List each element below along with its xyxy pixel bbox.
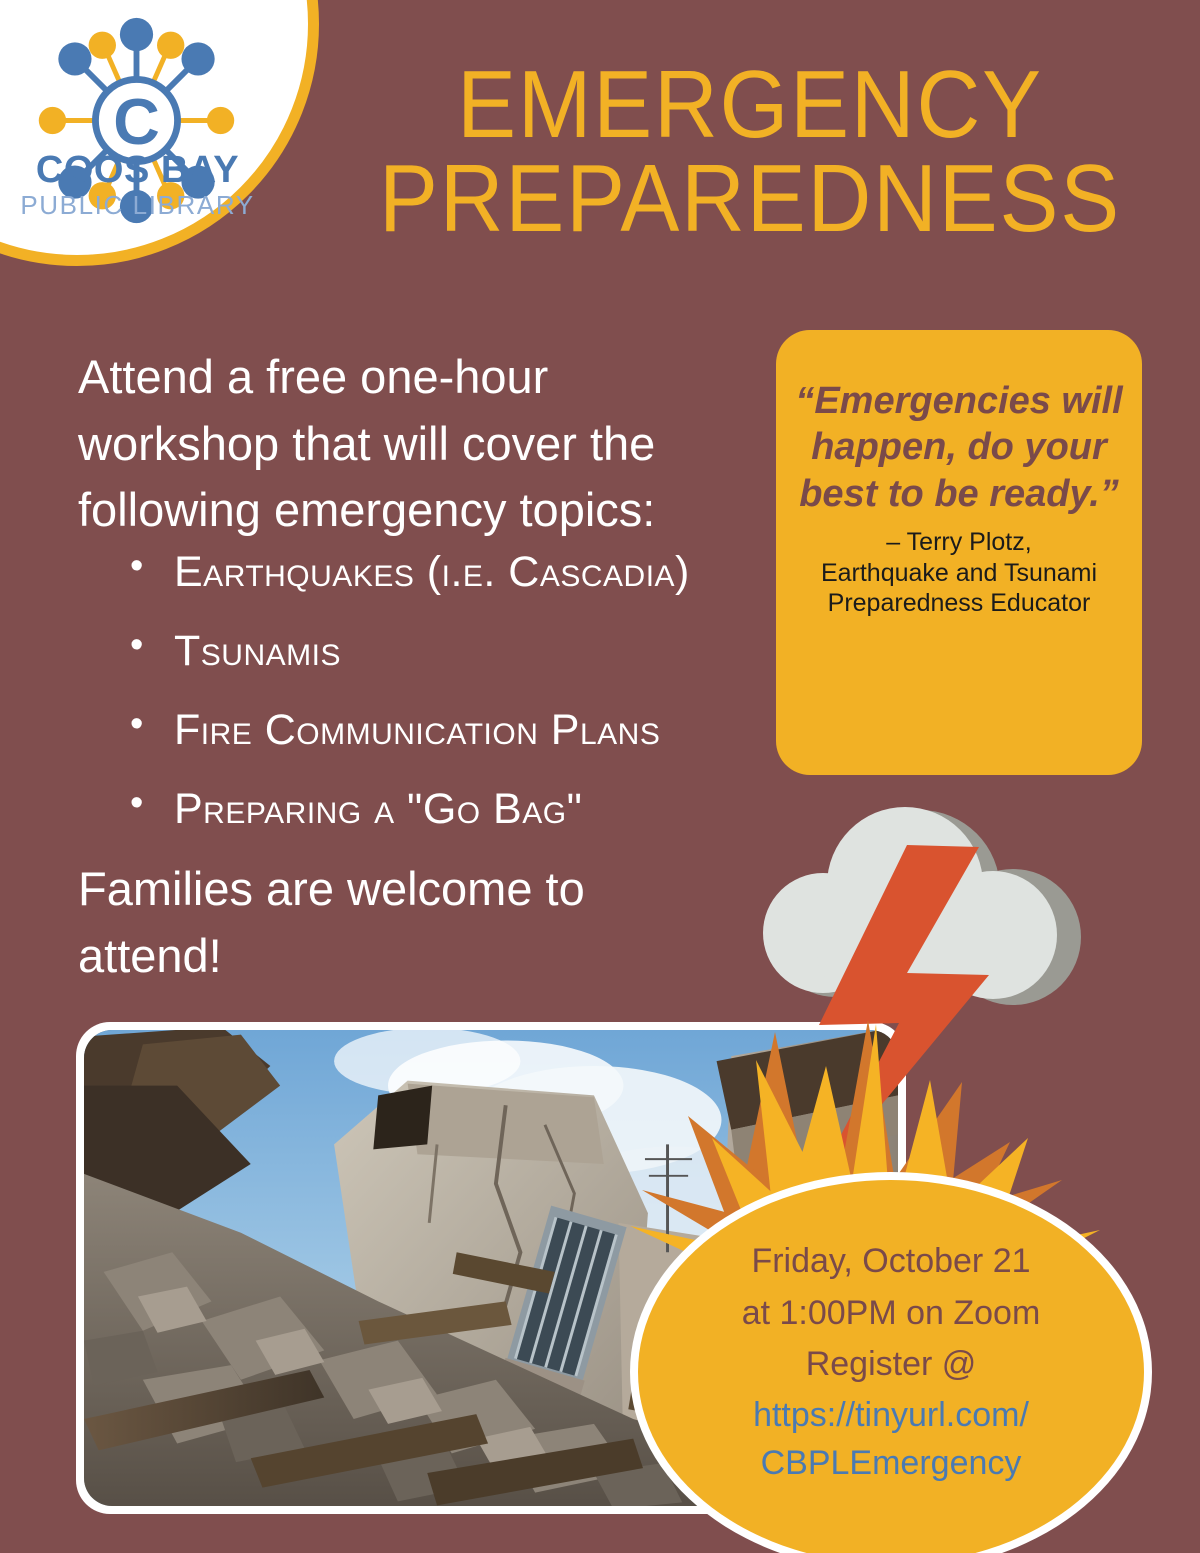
- quote-attrib-line1: – Terry Plotz,: [794, 527, 1124, 558]
- topics-list: Earthquakes (i.e. Cascadia) Tsunamis Fir…: [118, 548, 758, 864]
- event-register-label: Register @: [806, 1339, 977, 1391]
- quote-text: “Emergencies will happen, do your best t…: [794, 378, 1124, 517]
- event-details-oval-ring: Friday, October 21 at 1:00PM on Zoom Reg…: [630, 1172, 1152, 1553]
- quote-attrib-line3: Preparedness Educator: [794, 588, 1124, 619]
- list-item: Tsunamis: [118, 627, 758, 676]
- library-wordmark: COOS BAY PUBLIC LIBRARY: [15, 151, 260, 222]
- svg-text:C: C: [113, 86, 160, 158]
- event-register-url-line1[interactable]: https://tinyurl.com/: [753, 1391, 1029, 1439]
- library-logo-inner: C COOS BAY PUBLIC LIBRARY: [11, 11, 261, 261]
- event-details-oval: Friday, October 21 at 1:00PM on Zoom Reg…: [638, 1180, 1144, 1553]
- library-logo-badge: C COOS BAY PUBLIC LIBRARY: [0, 0, 319, 266]
- quote-attrib-line2: Earthquake and Tsunami: [794, 558, 1124, 589]
- list-item: Earthquakes (i.e. Cascadia): [118, 548, 758, 597]
- quote-card: “Emergencies will happen, do your best t…: [776, 330, 1142, 775]
- list-item: Fire Communication Plans: [118, 706, 758, 755]
- emergency-preparedness-poster: C COOS BAY PUBLIC LIBRARY EMERGENCY PREP…: [0, 0, 1200, 1553]
- event-time: at 1:00PM on Zoom: [742, 1288, 1041, 1340]
- logo-name-line1: COOS BAY: [15, 151, 260, 189]
- event-register-url-line2[interactable]: CBPLEmergency: [761, 1439, 1022, 1487]
- families-welcome-text: Families are welcome to attend!: [78, 856, 698, 989]
- list-item: Preparing a "Go Bag": [118, 785, 758, 834]
- event-date: Friday, October 21: [751, 1236, 1030, 1288]
- poster-title: EMERGENCY PREPAREDNESS: [364, 58, 1137, 246]
- intro-paragraph: Attend a free one-hour workshop that wil…: [78, 344, 738, 544]
- title-line-1: EMERGENCY: [364, 58, 1137, 152]
- quote-attribution: – Terry Plotz, Earthquake and Tsunami Pr…: [794, 527, 1124, 619]
- logo-name-line2: PUBLIC LIBRARY: [15, 189, 260, 222]
- title-line-2: PREPAREDNESS: [364, 152, 1137, 246]
